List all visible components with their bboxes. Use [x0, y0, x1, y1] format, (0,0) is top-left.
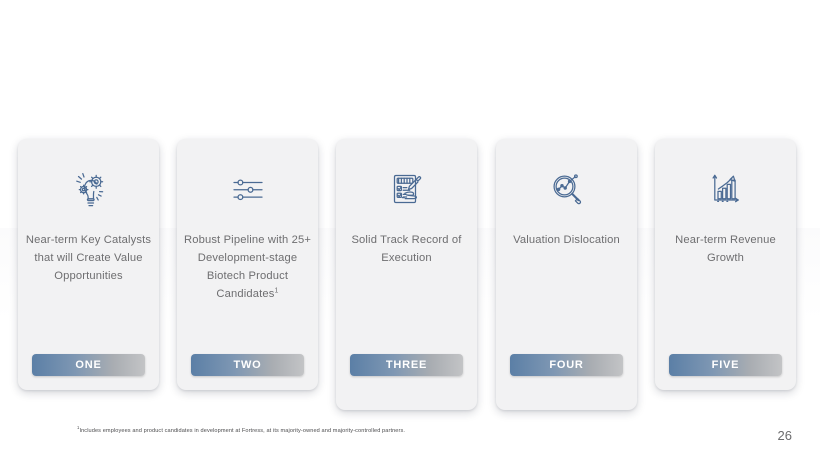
lightbulb-gears-icon	[18, 159, 159, 221]
magnifier-chart-icon	[496, 159, 637, 221]
takeaway-card-three[interactable]: Solid Track Record of Execution THREE	[336, 139, 477, 410]
footnote-text: Includes employees and product candidate…	[79, 428, 405, 434]
takeaway-card-five-text: Near-term Revenue Growth	[661, 231, 790, 267]
takeaway-card-two-footnote-marker: 1	[275, 287, 279, 294]
takeaway-card-four-text: Valuation Dislocation	[502, 231, 631, 249]
takeaway-card-two-text: Robust Pipeline with 25+ Development-sta…	[183, 231, 312, 303]
clipboard-checklist-hand-icon	[336, 159, 477, 221]
takeaway-card-one-text: Near-term Key Catalysts that will Create…	[24, 231, 153, 285]
takeaway-card-one-badge[interactable]: ONE	[32, 354, 145, 376]
takeaway-card-five[interactable]: Near-term Revenue Growth FIVE	[655, 139, 796, 390]
takeaway-card-two[interactable]: Robust Pipeline with 25+ Development-sta…	[177, 139, 318, 390]
takeaway-card-four[interactable]: Valuation Dislocation FOUR	[496, 139, 637, 410]
page-title-light: Key	[311, 36, 358, 66]
takeaway-card-list: Near-term Key Catalysts that will Create…	[18, 139, 802, 414]
sliders-icon	[177, 159, 318, 221]
page-title-bold: Takeaways	[366, 36, 508, 66]
takeaway-card-five-badge[interactable]: FIVE	[669, 354, 782, 376]
takeaway-card-three-badge[interactable]: THREE	[350, 354, 463, 376]
page-number: 26	[778, 428, 792, 443]
page-title: Key Takeaways	[0, 36, 820, 67]
slide-canvas: Key Takeaways	[0, 0, 820, 461]
footnote: 1Includes employees and product candidat…	[77, 428, 405, 434]
takeaway-card-two-label: Robust Pipeline with 25+ Development-sta…	[184, 234, 311, 300]
takeaway-card-two-badge[interactable]: TWO	[191, 354, 304, 376]
takeaway-card-one[interactable]: Near-term Key Catalysts that will Create…	[18, 139, 159, 390]
takeaway-card-four-badge[interactable]: FOUR	[510, 354, 623, 376]
bar-chart-growth-arrow-icon	[655, 159, 796, 221]
takeaway-card-three-text: Solid Track Record of Execution	[342, 231, 471, 267]
